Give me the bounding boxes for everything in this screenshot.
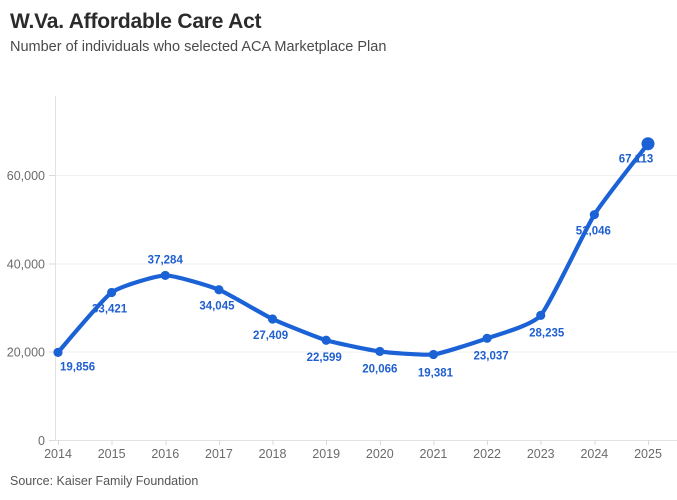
plot-area: 020,00040,00060,000 20142015201620172018… bbox=[0, 68, 677, 468]
x-tick-label: 2022 bbox=[473, 447, 501, 461]
data-point-label: 19,856 bbox=[60, 361, 95, 373]
chart-header: W.Va. Affordable Care Act Number of indi… bbox=[0, 0, 677, 57]
data-point-marker[interactable] bbox=[429, 350, 438, 359]
data-point-label: 37,284 bbox=[148, 254, 184, 266]
x-tick-label: 2023 bbox=[527, 447, 555, 461]
data-point-label: 33,421 bbox=[92, 303, 128, 315]
data-point-marker[interactable] bbox=[268, 314, 277, 323]
data-point-marker[interactable] bbox=[107, 288, 116, 297]
x-tick-label: 2020 bbox=[366, 447, 394, 461]
data-point-marker[interactable] bbox=[161, 271, 170, 280]
y-tick-labels: 020,00040,00060,000 bbox=[7, 169, 45, 448]
data-point-marker[interactable] bbox=[322, 336, 331, 345]
x-tick-label: 2024 bbox=[580, 447, 608, 461]
line-chart-svg: 020,00040,00060,000 20142015201620172018… bbox=[0, 68, 677, 468]
data-points bbox=[53, 137, 654, 359]
data-point-marker[interactable] bbox=[536, 311, 545, 320]
data-point-marker[interactable] bbox=[590, 210, 599, 219]
data-point-label: 22,599 bbox=[307, 352, 342, 364]
data-point-label: 67,113 bbox=[619, 154, 654, 166]
data-point-label: 51,046 bbox=[576, 226, 611, 238]
x-tick-label: 2016 bbox=[151, 447, 179, 461]
data-point-marker[interactable] bbox=[53, 348, 62, 357]
data-point-marker[interactable] bbox=[482, 334, 491, 343]
data-point-label: 34,045 bbox=[199, 301, 235, 313]
data-point-marker[interactable] bbox=[214, 285, 223, 294]
y-tick-label: 0 bbox=[38, 434, 45, 448]
y-tick-label: 60,000 bbox=[7, 169, 45, 183]
data-point-label: 27,409 bbox=[253, 330, 288, 342]
x-tick-label: 2025 bbox=[634, 447, 662, 461]
data-point-label: 28,235 bbox=[529, 327, 565, 339]
data-point-label: 23,037 bbox=[473, 350, 508, 362]
y-tick-label: 20,000 bbox=[7, 346, 45, 360]
data-point-marker[interactable] bbox=[375, 347, 384, 356]
page-title: W.Va. Affordable Care Act bbox=[10, 10, 667, 34]
x-tick-label: 2017 bbox=[205, 447, 233, 461]
chart-subtitle: Number of individuals who selected ACA M… bbox=[10, 39, 667, 56]
x-tick-label: 2021 bbox=[420, 447, 448, 461]
gridlines bbox=[49, 176, 677, 441]
chart-card: W.Va. Affordable Care Act Number of indi… bbox=[0, 0, 677, 500]
data-point-label: 19,381 bbox=[418, 367, 454, 379]
data-point-marker[interactable] bbox=[642, 137, 655, 150]
x-tick-label: 2019 bbox=[312, 447, 340, 461]
x-tick-label: 2018 bbox=[259, 447, 287, 461]
x-tick-label: 2014 bbox=[44, 447, 72, 461]
y-tick-label: 40,000 bbox=[7, 257, 45, 271]
x-tick-labels: 2014201520162017201820192020202120222023… bbox=[44, 440, 662, 461]
x-tick-label: 2015 bbox=[98, 447, 126, 461]
data-point-label: 20,066 bbox=[362, 363, 397, 375]
source-note: Source: Kaiser Family Foundation bbox=[10, 474, 198, 488]
